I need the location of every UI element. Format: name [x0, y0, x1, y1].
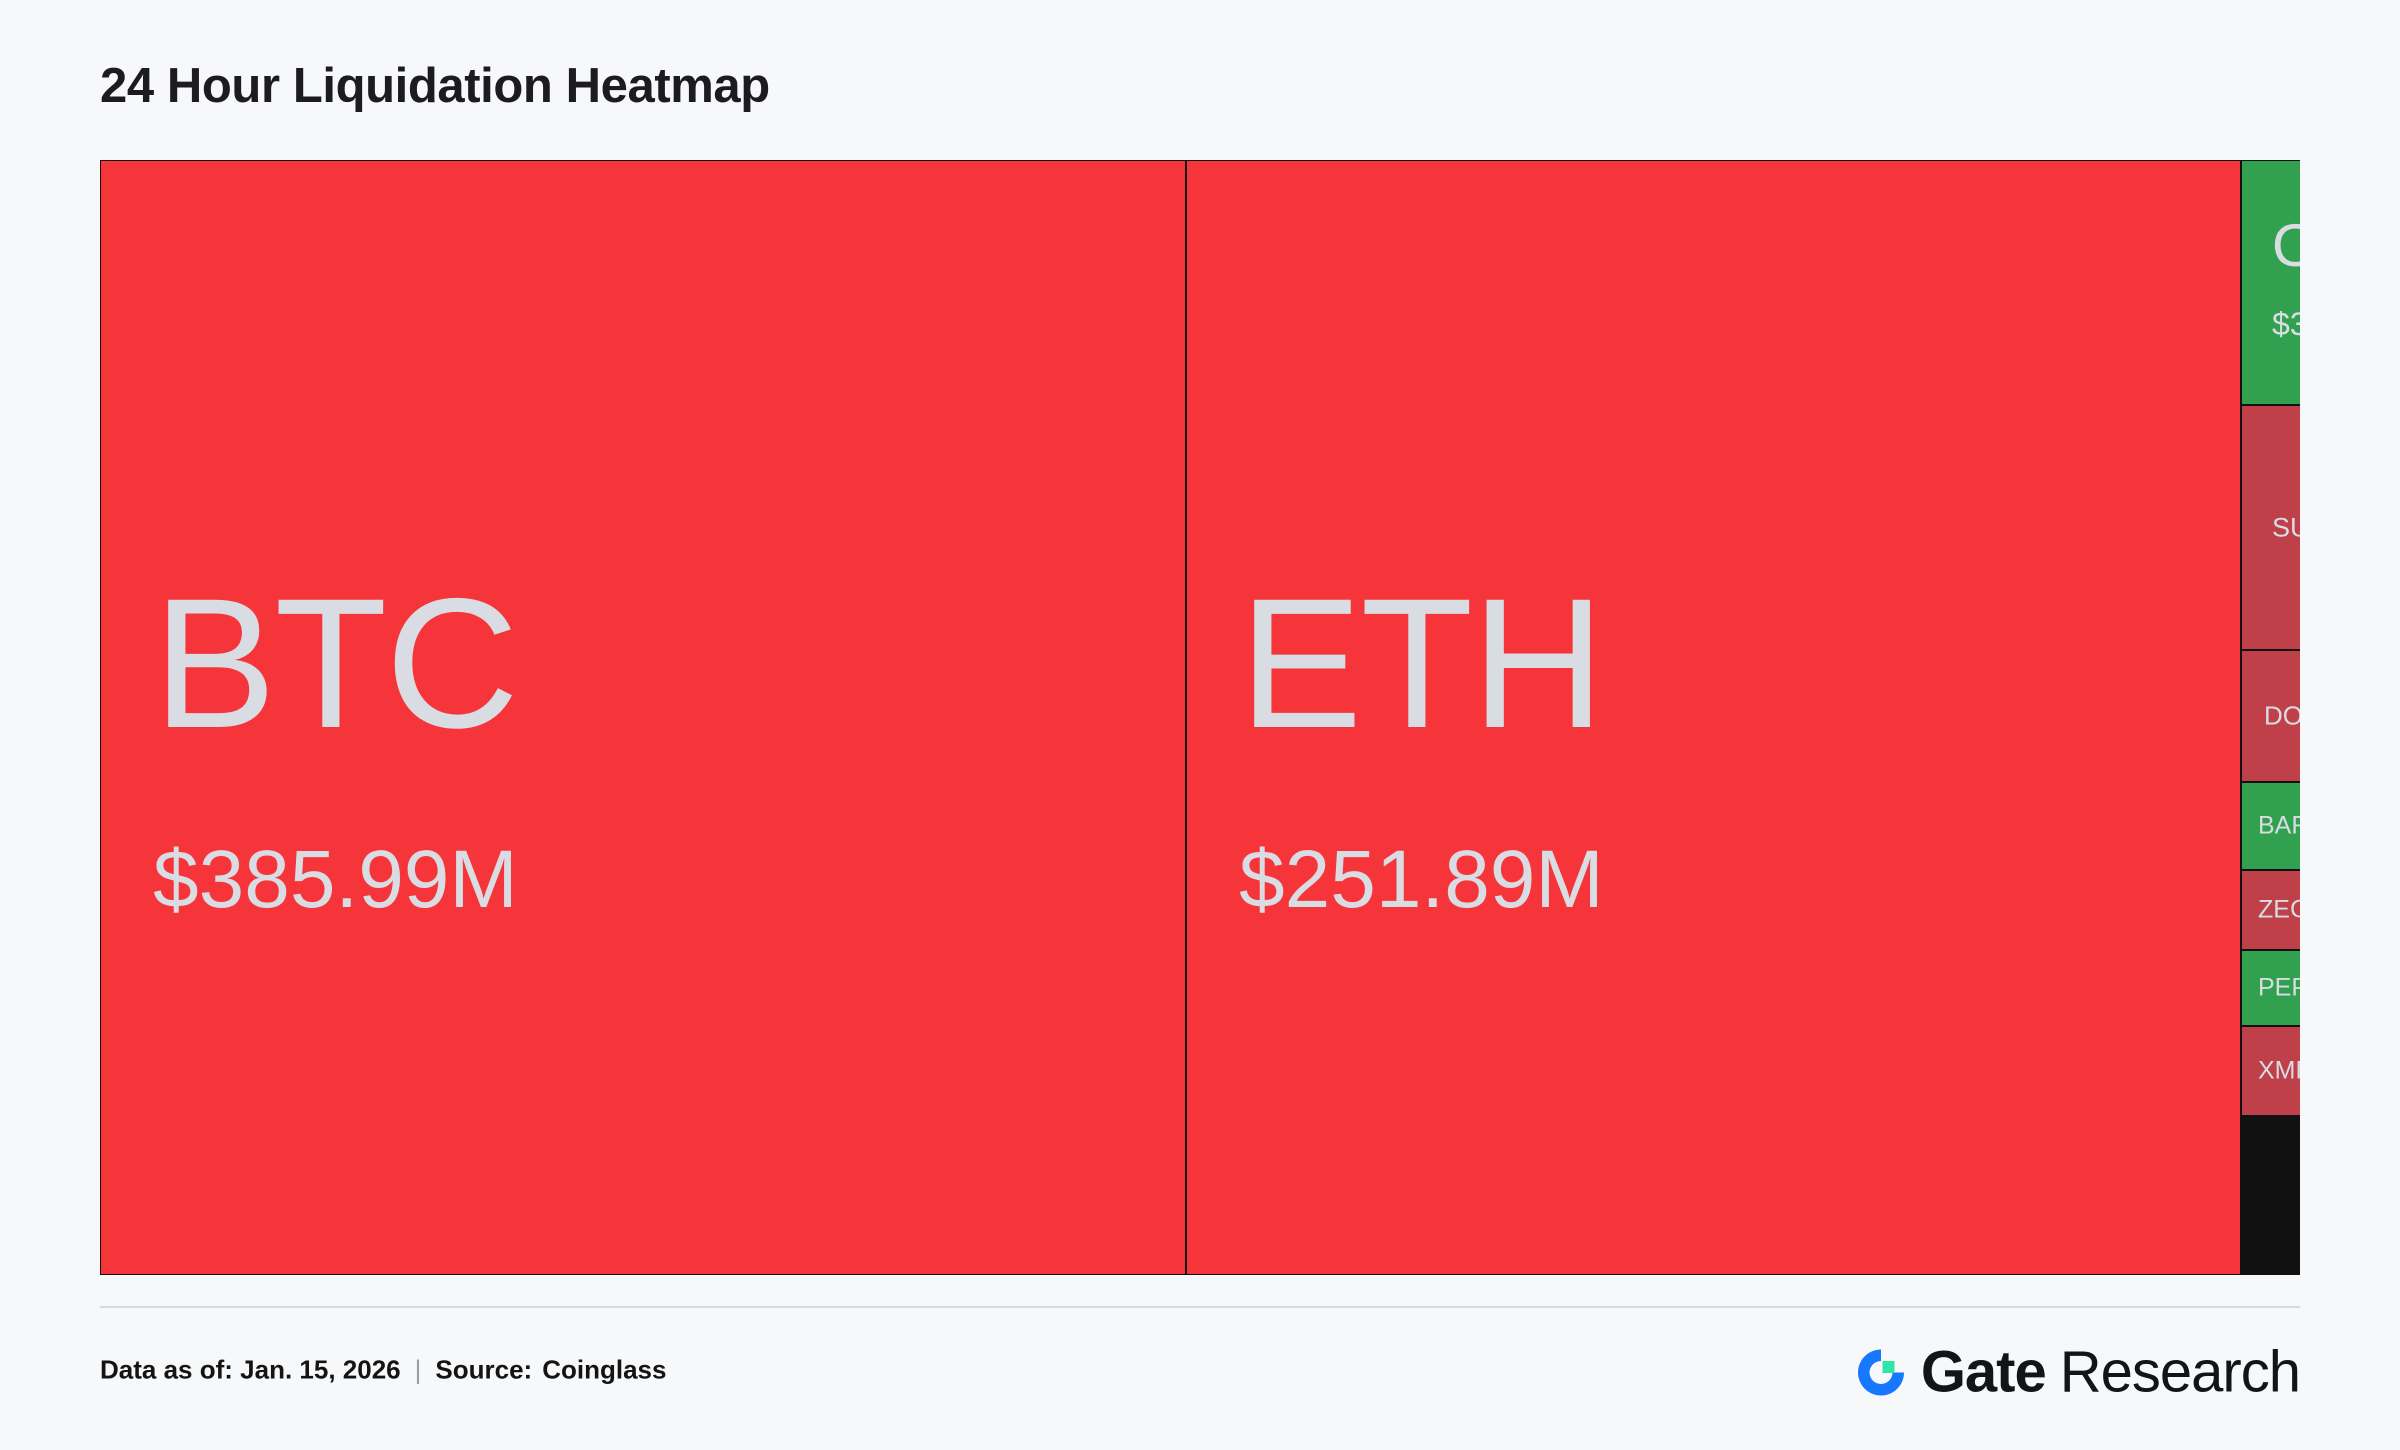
tile-label: BTC: [153, 558, 517, 770]
tile-label: Others: [2272, 211, 2300, 280]
tile-label: PEPE: [2242, 974, 2300, 1003]
tile-value: $33.51M: [2272, 306, 2300, 343]
gate-logo-icon: [1855, 1346, 1907, 1398]
treemap-tile-bard[interactable]: BARD: [2241, 782, 2300, 870]
brand-wordmark: Gate Research: [1921, 1339, 2300, 1406]
footer-divider: [100, 1306, 2300, 1308]
treemap-tile-doge[interactable]: DOGE: [2241, 650, 2300, 782]
source-value: Coinglass: [542, 1355, 666, 1386]
data-as-of-value: Jan. 15, 2026: [240, 1355, 400, 1386]
tile-value: $385.99M: [153, 833, 518, 927]
treemap-tile-btc[interactable]: BTC $385.99M: [100, 160, 1186, 1275]
footer-meta: Data as of: Jan. 15, 2026 | Source: Coin…: [100, 1355, 666, 1386]
source-label: Source:: [435, 1355, 542, 1386]
treemap-tile-zec[interactable]: ZEC: [2241, 870, 2300, 950]
brand-research: Research: [2060, 1339, 2300, 1406]
brand-gate: Gate: [1921, 1339, 2046, 1406]
footer-separator: |: [401, 1355, 436, 1386]
tile-label: ETH: [1239, 558, 1603, 770]
tile-label: BARD: [2242, 812, 2300, 841]
treemap-tile-eth[interactable]: ETH $251.89M: [1186, 160, 2241, 1275]
liquidation-treemap: BTC $385.99M ETH $251.89M Others $33.51M…: [100, 160, 2300, 1275]
gate-research-logo: Gate Research: [1855, 1339, 2300, 1406]
treemap-tile-pepe[interactable]: PEPE: [2241, 950, 2300, 1026]
tile-value: $251.89M: [1239, 833, 1604, 927]
tile-label: ZEC: [2242, 896, 2300, 925]
treemap-tile-sui[interactable]: SUI: [2241, 405, 2300, 650]
tile-label: XMR: [2242, 1057, 2300, 1086]
tile-label: SUI: [2242, 512, 2300, 543]
tile-label: DOGE: [2242, 701, 2300, 732]
treemap-tile-others[interactable]: Others $33.51M: [2241, 160, 2300, 405]
page-title: 24 Hour Liquidation Heatmap: [100, 58, 770, 114]
data-as-of-label: Data as of:: [100, 1355, 233, 1386]
treemap-tile-xmr[interactable]: XMR: [2241, 1026, 2300, 1116]
